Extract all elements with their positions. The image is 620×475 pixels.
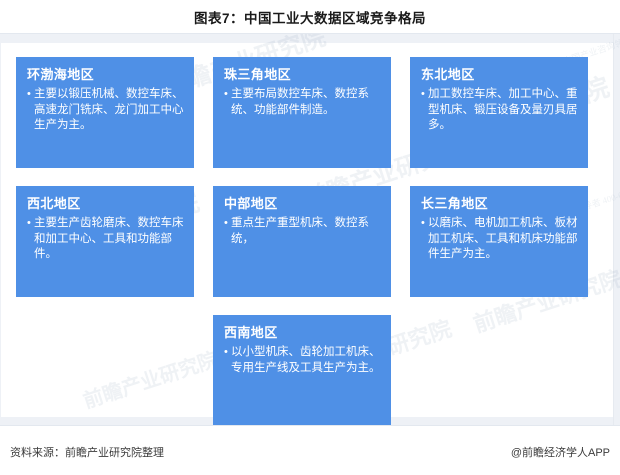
region-description: • 加工数控车床、加工中心、重型机床、锻压设备及量刃具居多。 — [421, 87, 578, 134]
grid-cell: 西北地区 • 主要生产齿轮磨床、数控车床和加工中心、工具和功能部件。 — [16, 186, 194, 297]
frame-edge-right — [613, 34, 620, 425]
source-label: 资料来源：前瞻产业研究院整理 — [10, 444, 164, 460]
region-description: • 主要以锻压机械、数控车床、高速龙门铣床、龙门加工中心生产为主。 — [27, 87, 184, 134]
bullet-icon: • — [224, 87, 231, 103]
region-title: 长三角地区 — [421, 195, 578, 212]
region-description: • 以磨床、电机加工机床、板材加工机床、工具和机床功能部件生产为主。 — [421, 216, 578, 263]
region-description: • 主要布局数控车床、数控系统、功能部件制造。 — [224, 87, 381, 118]
grid-cell: 东北地区 • 加工数控车床、加工中心、重型机床、锻压设备及量刃具居多。 — [410, 57, 588, 168]
region-description: • 以小型机床、齿轮加工机床、专用生产线及工具生产为主。 — [224, 345, 381, 376]
grid-cell: 珠三角地区 • 主要布局数控车床、数控系统、功能部件制造。 — [213, 57, 391, 168]
page-title: 图表7：中国工业大数据区域竞争格局 — [0, 0, 620, 29]
region-card-dongbei[interactable]: 东北地区 • 加工数控车床、加工中心、重型机床、锻压设备及量刃具居多。 — [410, 57, 588, 168]
grid-cell: 环渤海地区 • 主要以锻压机械、数控车床、高速龙门铣床、龙门加工中心生产为主。 — [16, 57, 194, 168]
bullet-icon: • — [224, 345, 231, 361]
region-title: 西南地区 — [224, 324, 381, 341]
region-card-changsanjiao[interactable]: 长三角地区 • 以磨床、电机加工机床、板材加工机床、工具和机床功能部件生产为主。 — [410, 186, 588, 297]
region-title: 珠三角地区 — [224, 66, 381, 83]
region-description-text: 以磨床、电机加工机床、板材加工机床、工具和机床功能部件生产为主。 — [428, 216, 578, 263]
region-title: 东北地区 — [421, 66, 578, 83]
region-description-text: 重点生产重型机床、数控系统， — [231, 216, 381, 247]
region-card-zhusanjiao[interactable]: 珠三角地区 • 主要布局数控车床、数控系统、功能部件制造。 — [213, 57, 391, 168]
region-card-zhongbu[interactable]: 中部地区 • 重点生产重型机床、数控系统， — [213, 186, 391, 297]
region-description-text: 加工数控车床、加工中心、重型机床、锻压设备及量刃具居多。 — [428, 87, 578, 134]
top-band — [0, 34, 620, 43]
region-title: 西北地区 — [27, 195, 184, 212]
region-row: 西北地区 • 主要生产齿轮磨床、数控车床和加工中心、工具和功能部件。 中部地区 … — [16, 186, 604, 297]
region-card-huanbohai[interactable]: 环渤海地区 • 主要以锻压机械、数控车床、高速龙门铣床、龙门加工中心生产为主。 — [16, 57, 194, 168]
bullet-icon: • — [224, 216, 231, 232]
footer: 资料来源：前瞻产业研究院整理 @前瞻经济学人APP — [0, 426, 620, 475]
attribution-label: @前瞻经济学人APP — [511, 444, 610, 460]
bullet-icon: • — [27, 216, 34, 232]
region-description-text: 主要以锻压机械、数控车床、高速龙门铣床、龙门加工中心生产为主。 — [34, 87, 184, 134]
region-card-xinan[interactable]: 西南地区 • 以小型机床、齿轮加工机床、专用生产线及工具生产为主。 — [213, 315, 391, 426]
chart-content-area: 前瞻产业研究院 前瞻产业研究院 前瞻产业研究院 前瞻产业研究院 前瞻产业研究院 … — [0, 33, 620, 426]
grid-cell-empty — [16, 315, 194, 426]
grid-cell: 西南地区 • 以小型机床、齿轮加工机床、专用生产线及工具生产为主。 — [213, 315, 391, 426]
frame-edge-left — [0, 34, 1, 425]
grid-cell-empty — [410, 315, 588, 426]
grid-cell: 长三角地区 • 以磨床、电机加工机床、板材加工机床、工具和机床功能部件生产为主。 — [410, 186, 588, 297]
bullet-icon: • — [27, 87, 34, 103]
region-description: • 主要生产齿轮磨床、数控车床和加工中心、工具和功能部件。 — [27, 216, 184, 263]
region-description-text: 主要布局数控车床、数控系统、功能部件制造。 — [231, 87, 381, 118]
grid-cell: 中部地区 • 重点生产重型机床、数控系统， — [213, 186, 391, 297]
region-row: 环渤海地区 • 主要以锻压机械、数控车床、高速龙门铣床、龙门加工中心生产为主。 … — [16, 57, 604, 168]
region-card-xibei[interactable]: 西北地区 • 主要生产齿轮磨床、数控车床和加工中心、工具和功能部件。 — [16, 186, 194, 297]
bullet-icon: • — [421, 216, 428, 232]
region-description: • 重点生产重型机床、数控系统， — [224, 216, 381, 247]
region-grid: 环渤海地区 • 主要以锻压机械、数控车床、高速龙门铣床、龙门加工中心生产为主。 … — [16, 57, 604, 426]
bullet-icon: • — [421, 87, 428, 103]
region-title: 中部地区 — [224, 195, 381, 212]
region-description-text: 主要生产齿轮磨床、数控车床和加工中心、工具和功能部件。 — [34, 216, 184, 263]
region-row: 西南地区 • 以小型机床、齿轮加工机床、专用生产线及工具生产为主。 — [16, 315, 604, 426]
region-description-text: 以小型机床、齿轮加工机床、专用生产线及工具生产为主。 — [231, 345, 381, 376]
region-title: 环渤海地区 — [27, 66, 184, 83]
